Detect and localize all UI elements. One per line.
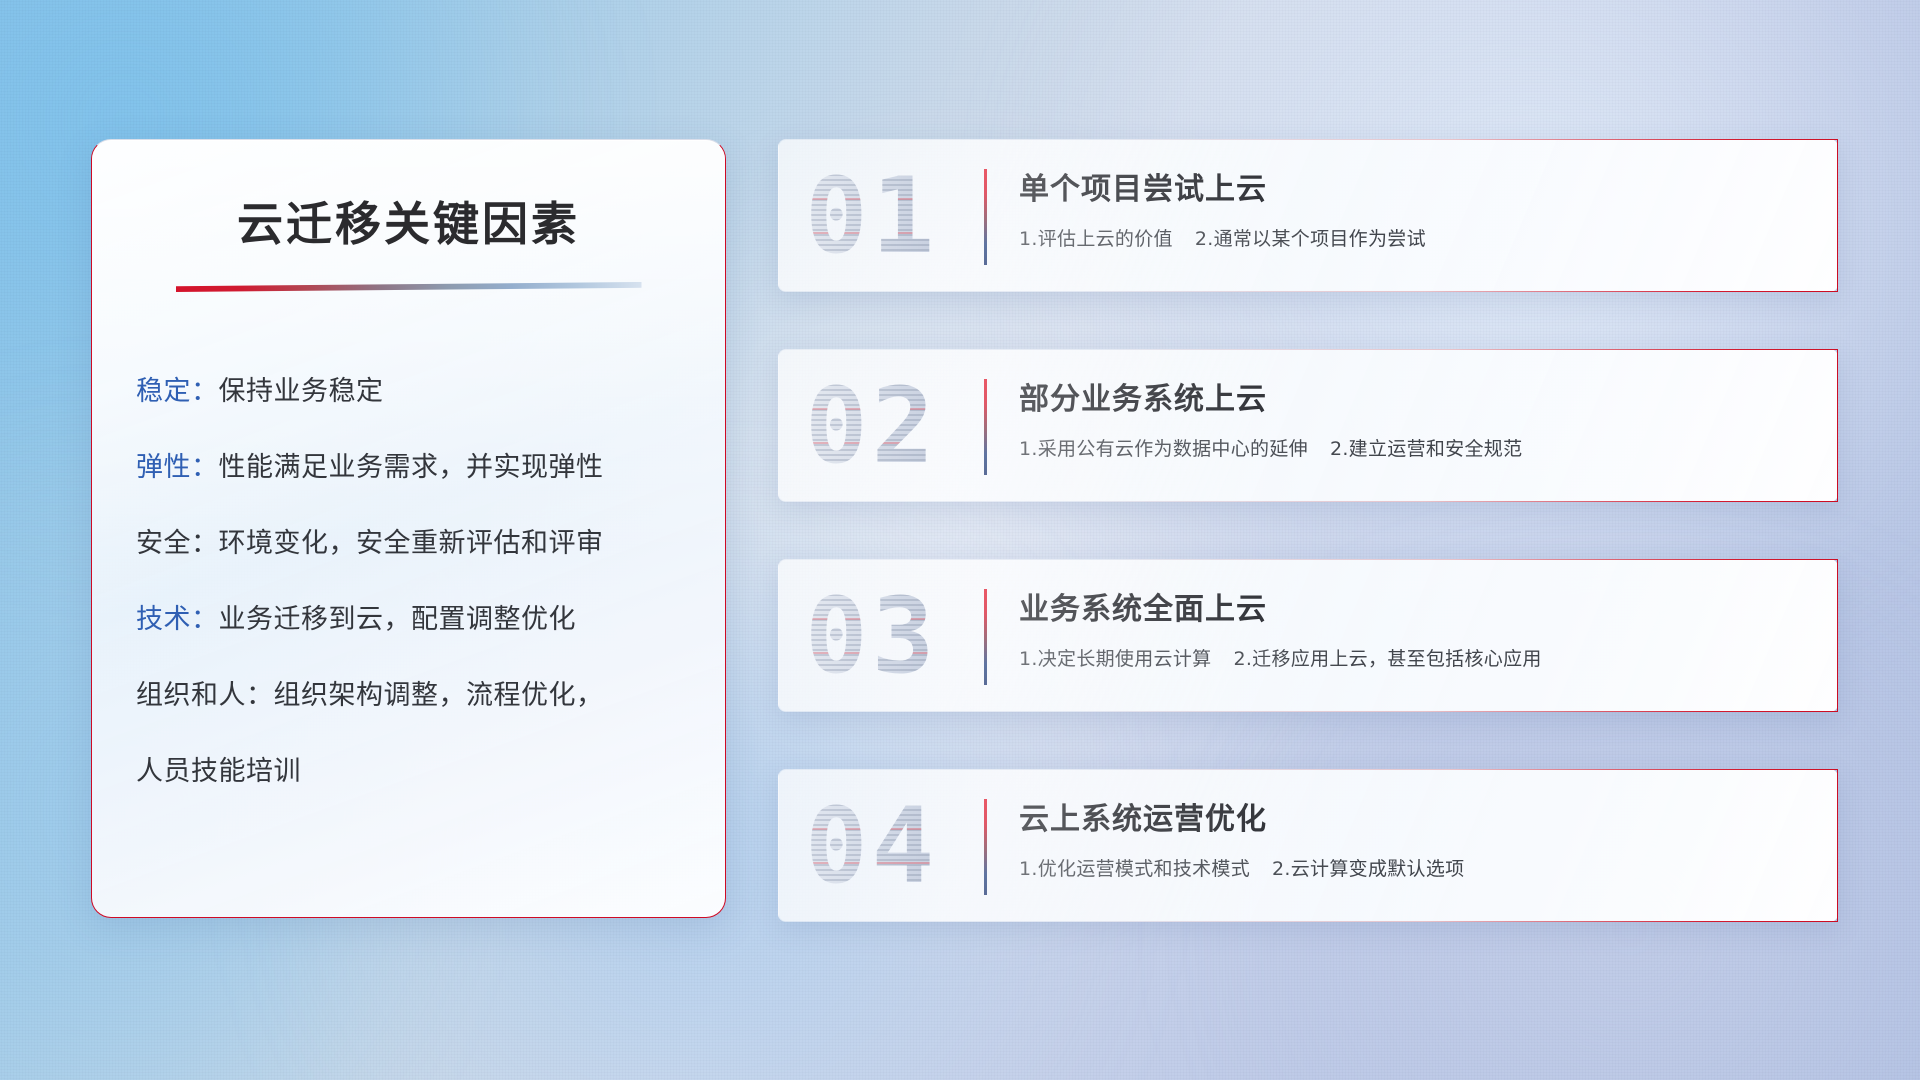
card-point-2: 2.迁移应用上云，甚至包括核心应用	[1233, 648, 1541, 670]
card-divider-line	[984, 799, 987, 895]
list-item-text: 保持业务稳定	[219, 376, 384, 407]
list-item: 人员技能培训	[136, 734, 725, 810]
card-point-2: 2.建立运营和安全规范	[1330, 438, 1522, 460]
card-subtitle: 1.评估上云的价值2.通常以某个项目作为尝试	[1019, 224, 1811, 251]
key-factors-panel: 云迁移关键因素 稳定：保持业务稳定 弹性：性能满足业务需求，并实现弹性 安全：环…	[91, 139, 726, 918]
card-divider-line	[984, 589, 987, 685]
key-factors-list: 稳定：保持业务稳定 弹性：性能满足业务需求，并实现弹性 安全：环境变化，安全重新…	[92, 354, 725, 810]
stage-number-watermark-accent: 02	[805, 374, 938, 478]
list-item-label: 稳定：	[136, 376, 219, 407]
stage-card[interactable]: 03 03 业务系统全面上云 1.决定长期使用云计算2.迁移应用上云，甚至包括核…	[778, 559, 1838, 712]
card-point-1: 1.评估上云的价值	[1019, 228, 1173, 250]
stage-number-watermark-accent: 01	[805, 164, 938, 268]
list-item-text: 组织架构调整，流程优化，	[274, 680, 604, 711]
card-body: 云上系统运营优化 1.优化运营模式和技术模式2.云计算变成默认选项	[1019, 794, 1811, 881]
list-item: 组织和人：组织架构调整，流程优化，	[136, 658, 725, 734]
list-item-label: 技术：	[136, 604, 219, 635]
stage-number-watermark-accent: 03	[805, 584, 938, 688]
card-body: 业务系统全面上云 1.决定长期使用云计算2.迁移应用上云，甚至包括核心应用	[1019, 584, 1811, 671]
card-point-2: 2.通常以某个项目作为尝试	[1195, 228, 1426, 250]
list-item: 稳定：保持业务稳定	[136, 354, 725, 430]
stage-cards-list: 01 01 单个项目尝试上云 1.评估上云的价值2.通常以某个项目作为尝试 02…	[778, 139, 1838, 979]
list-item-text: 业务迁移到云，配置调整优化	[219, 604, 577, 635]
list-item: 弹性：性能满足业务需求，并实现弹性	[136, 430, 725, 506]
list-item: 安全：环境变化，安全重新评估和评审	[136, 506, 725, 582]
list-item-text: 人员技能培训	[136, 756, 301, 787]
list-item-label: 弹性：	[136, 452, 219, 483]
card-divider-line	[984, 169, 987, 265]
list-item-text: 性能满足业务需求，并实现弹性	[219, 452, 604, 483]
card-subtitle: 1.决定长期使用云计算2.迁移应用上云，甚至包括核心应用	[1019, 644, 1811, 671]
card-subtitle: 1.优化运营模式和技术模式2.云计算变成默认选项	[1019, 854, 1811, 881]
page-title: 云迁移关键因素	[92, 188, 725, 254]
list-item: 技术：业务迁移到云，配置调整优化	[136, 582, 725, 658]
card-point-2: 2.云计算变成默认选项	[1272, 858, 1464, 880]
list-item-label: 组织和人：	[136, 680, 274, 711]
card-point-1: 1.优化运营模式和技术模式	[1019, 858, 1250, 880]
card-body: 部分业务系统上云 1.采用公有云作为数据中心的延伸2.建立运营和安全规范	[1019, 374, 1811, 461]
card-point-1: 1.决定长期使用云计算	[1019, 648, 1211, 670]
card-title: 云上系统运营优化	[1019, 794, 1811, 838]
card-title: 业务系统全面上云	[1019, 584, 1811, 628]
stage-card[interactable]: 01 01 单个项目尝试上云 1.评估上云的价值2.通常以某个项目作为尝试	[778, 139, 1838, 292]
card-divider-line	[984, 379, 987, 475]
card-subtitle: 1.采用公有云作为数据中心的延伸2.建立运营和安全规范	[1019, 434, 1811, 461]
stage-card[interactable]: 04 04 云上系统运营优化 1.优化运营模式和技术模式2.云计算变成默认选项	[778, 769, 1838, 922]
card-body: 单个项目尝试上云 1.评估上云的价值2.通常以某个项目作为尝试	[1019, 164, 1811, 251]
card-title: 部分业务系统上云	[1019, 374, 1811, 418]
stage-number-watermark-accent: 04	[805, 794, 938, 898]
card-point-1: 1.采用公有云作为数据中心的延伸	[1019, 438, 1308, 460]
list-item-label: 安全：	[136, 528, 219, 559]
card-title: 单个项目尝试上云	[1019, 164, 1811, 208]
stage-card[interactable]: 02 02 部分业务系统上云 1.采用公有云作为数据中心的延伸2.建立运营和安全…	[778, 349, 1838, 502]
list-item-text: 环境变化，安全重新评估和评审	[219, 528, 604, 559]
title-underline-bar	[176, 282, 642, 292]
